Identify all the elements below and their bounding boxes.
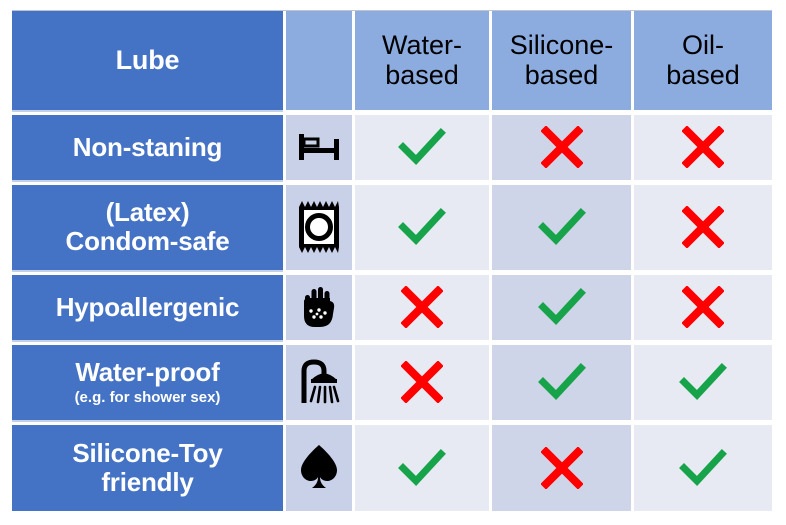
cross-icon: [541, 126, 583, 168]
cell-silicone-toy-water: [355, 425, 489, 511]
comparison-table-image: Lube Water- based Silicone- based Oil- b…: [0, 0, 786, 525]
bed-icon-cell: [286, 115, 352, 180]
cell-hypoallergenic-silicone: [492, 275, 631, 340]
row-sublabel-text: (e.g. for shower sex): [75, 389, 221, 406]
table-corner-header: Lube: [12, 11, 283, 110]
cross-icon: [682, 206, 724, 248]
shower-icon: [296, 357, 342, 407]
table-row: Non-staning: [12, 115, 772, 180]
hand-rash-icon-cell: [286, 275, 352, 340]
column-header-silicone-based-line2: based: [525, 60, 599, 90]
row-label-text-line1: Silicone-Toy: [72, 439, 222, 468]
cell-silicone-toy-oil: [634, 425, 772, 511]
table-row: Water-proof (e.g. for shower sex): [12, 345, 772, 420]
row-label-text: Non-staning: [73, 133, 222, 162]
column-header-water-based-line1: Water-: [382, 30, 462, 60]
row-label-water-proof: Water-proof (e.g. for shower sex): [12, 345, 283, 420]
check-icon: [398, 448, 446, 488]
cross-icon: [401, 286, 443, 328]
table-corner-label: Lube: [116, 45, 180, 75]
cross-icon: [541, 447, 583, 489]
row-label-silicone-toy-friendly: Silicone-Toy friendly: [12, 425, 283, 511]
row-label-text-line2: friendly: [101, 468, 193, 497]
shower-icon-cell: [286, 345, 352, 420]
check-icon: [538, 362, 586, 402]
check-icon: [679, 362, 727, 402]
cell-condom-safe-silicone: [492, 185, 631, 269]
condom-packet-icon-cell: [286, 185, 352, 269]
column-header-oil-based: Oil- based: [634, 11, 772, 110]
icon-column-header: [286, 11, 352, 110]
cell-non-staining-water: [355, 115, 489, 180]
cell-condom-safe-oil: [634, 185, 772, 269]
row-label-non-staining: Non-staning: [12, 115, 283, 180]
row-label-text-line2: Condom-safe: [66, 227, 230, 256]
column-header-water-based-line2: based: [385, 60, 459, 90]
row-label-hypoallergenic: Hypoallergenic: [12, 275, 283, 340]
bed-icon: [297, 130, 341, 164]
cross-icon: [682, 126, 724, 168]
spade-icon: [297, 442, 341, 494]
check-icon: [398, 207, 446, 247]
table-header-row: Lube Water- based Silicone- based Oil- b…: [12, 11, 772, 110]
row-label-text: Hypoallergenic: [56, 293, 240, 322]
condom-packet-icon: [296, 199, 342, 255]
cell-water-proof-water: [355, 345, 489, 420]
cell-water-proof-silicone: [492, 345, 631, 420]
table-row: (Latex) Condom-safe: [12, 185, 772, 269]
hand-rash-icon: [299, 283, 339, 331]
cell-silicone-toy-silicone: [492, 425, 631, 511]
column-header-oil-based-line1: Oil-: [682, 30, 724, 60]
check-icon: [679, 448, 727, 488]
cross-icon: [401, 361, 443, 403]
check-icon: [398, 127, 446, 167]
lube-comparison-table: Lube Water- based Silicone- based Oil- b…: [12, 10, 772, 511]
spade-icon-cell: [286, 425, 352, 511]
column-header-silicone-based-line1: Silicone-: [510, 30, 614, 60]
check-icon: [538, 287, 586, 327]
check-icon: [538, 207, 586, 247]
cell-hypoallergenic-water: [355, 275, 489, 340]
row-label-text-line1: (Latex): [106, 198, 190, 227]
table-row: Hypoallergenic: [12, 275, 772, 340]
column-header-silicone-based: Silicone- based: [492, 11, 631, 110]
cell-non-staining-silicone: [492, 115, 631, 180]
row-label-latex-condom-safe: (Latex) Condom-safe: [12, 185, 283, 269]
cell-non-staining-oil: [634, 115, 772, 180]
row-label-text: Water-proof: [75, 358, 219, 387]
column-header-water-based: Water- based: [355, 11, 489, 110]
cell-condom-safe-water: [355, 185, 489, 269]
column-header-oil-based-line2: based: [666, 60, 740, 90]
cell-hypoallergenic-oil: [634, 275, 772, 340]
cross-icon: [682, 286, 724, 328]
cell-water-proof-oil: [634, 345, 772, 420]
table-row: Silicone-Toy friendly: [12, 425, 772, 511]
